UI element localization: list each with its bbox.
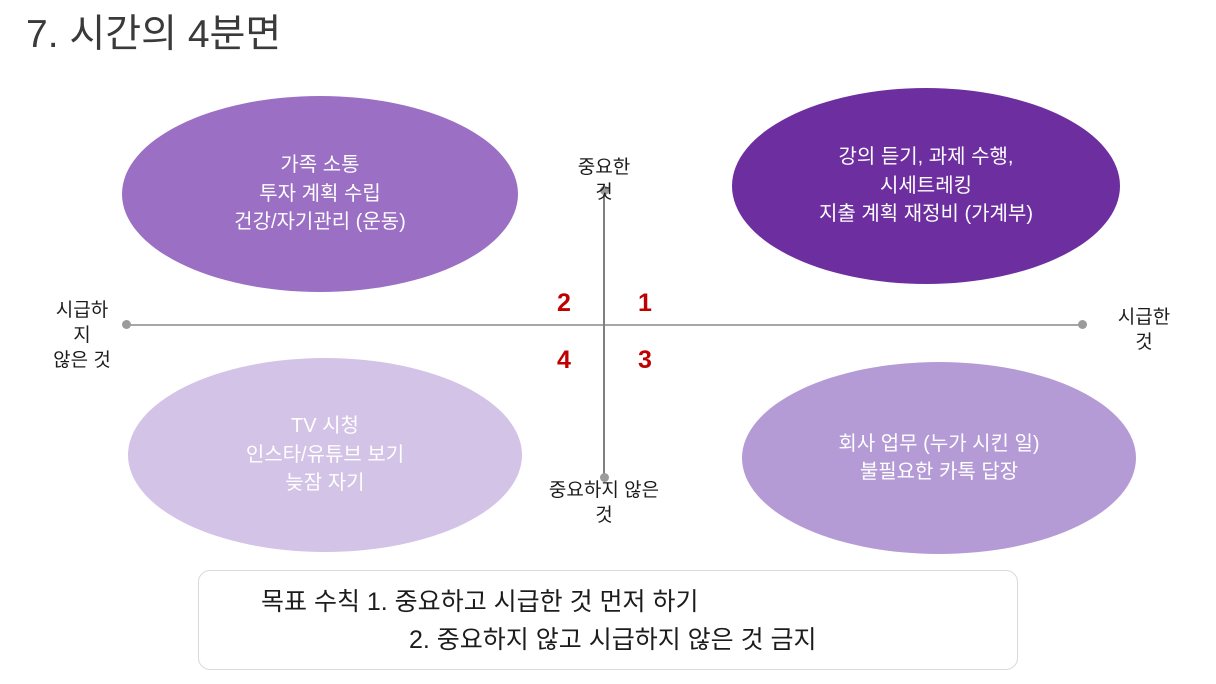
quadrant-ellipse-q4-text: TV 시청 인스타/유튜브 보기 늦잠 자기: [246, 412, 404, 497]
quadrant-ellipse-q3: 회사 업무 (누가 시킨 일) 불필요한 카톡 답장: [742, 362, 1136, 554]
vertical-axis-line: [603, 190, 605, 478]
slide-canvas: 7. 시간의 4분면 중요한 것 중요하지 않은 것 시급하 지 않은 것 시급…: [0, 0, 1216, 684]
axis-endpoint-dot-right: [1078, 320, 1087, 329]
goal-rules-box: 목표 수칙 1. 중요하고 시급한 것 먼저 하기 2. 중요하지 않고 시급하…: [198, 570, 1018, 670]
axis-label-urgent: 시급한 것: [1096, 305, 1192, 355]
quadrant-ellipse-q4: TV 시청 인스타/유튜브 보기 늦잠 자기: [128, 358, 522, 552]
quadrant-ellipse-q1: 강의 듣기, 과제 수행, 시세트레킹 지출 계획 재정비 (가계부): [732, 88, 1120, 284]
goal-rule-line-2: 2. 중요하지 않고 시급하지 않은 것 금지: [219, 621, 997, 659]
axis-label-not-urgent: 시급하 지 않은 것: [40, 298, 124, 373]
axis-label-important: 중요한 것: [541, 155, 667, 205]
quadrant-ellipse-q2-text: 가족 소통 투자 계획 수립 건강/자기관리 (운동): [234, 151, 406, 236]
page-title: 7. 시간의 4분면: [26, 12, 281, 59]
quadrant-ellipse-q3-text: 회사 업무 (누가 시킨 일) 불필요한 카톡 답장: [838, 430, 1039, 487]
axis-label-not-important: 중요하지 않은 것: [516, 478, 692, 528]
quadrant-number-3: 3: [638, 348, 652, 373]
goal-rule-line-1: 목표 수칙 1. 중요하고 시급한 것 먼저 하기: [219, 583, 997, 621]
quadrant-ellipse-q2: 가족 소통 투자 계획 수립 건강/자기관리 (운동): [122, 96, 518, 292]
quadrant-number-4: 4: [557, 348, 571, 373]
quadrant-number-2: 2: [557, 291, 571, 316]
quadrant-ellipse-q1-text: 강의 듣기, 과제 수행, 시세트레킹 지출 계획 재정비 (가계부): [819, 143, 1033, 228]
quadrant-number-1: 1: [638, 291, 652, 316]
